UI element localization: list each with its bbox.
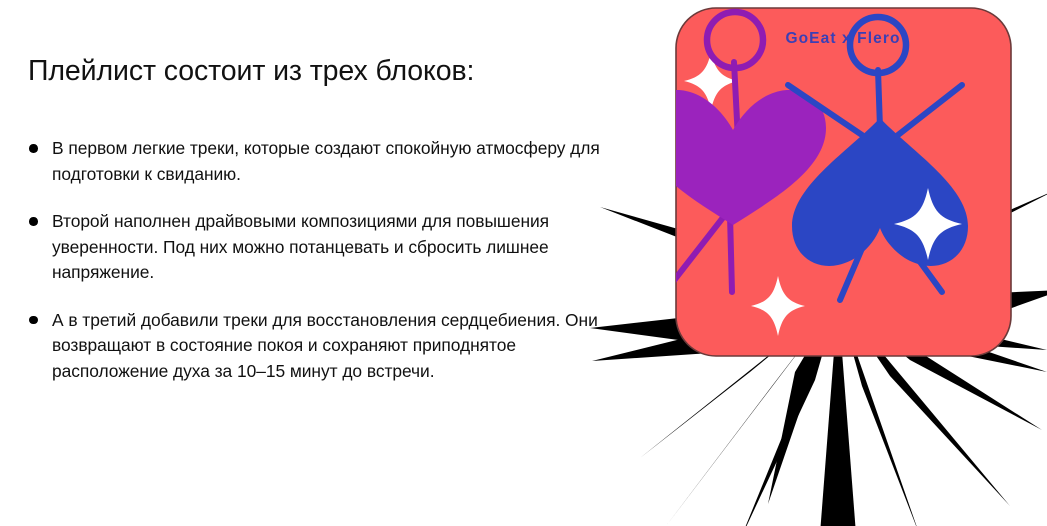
card-label: GoEat x Flero <box>785 30 900 47</box>
list-item: А в третий добавили треки для восстановл… <box>26 308 616 385</box>
bullet-dot-icon <box>29 316 38 325</box>
promo-card: GoEat x Flero <box>625 8 1011 356</box>
slide-canvas: Плейлист состоит из трех блоков: В перво… <box>0 0 1047 526</box>
bullet-dot-icon <box>29 217 38 226</box>
list-item: В первом легкие треки, которые создают с… <box>26 136 616 187</box>
text-column: Плейлист состоит из трех блоков: В перво… <box>0 0 640 526</box>
list-item-text: Второй наполнен драйвовыми композициями … <box>52 211 549 282</box>
page-title: Плейлист состоит из трех блоков: <box>28 54 628 88</box>
bullet-list: В первом легкие треки, которые создают с… <box>26 136 616 385</box>
artwork-illustration: GoEat x Flero <box>590 0 1047 526</box>
list-item: Второй наполнен драйвовыми композициями … <box>26 209 616 286</box>
list-item-text: В первом легкие треки, которые создают с… <box>52 138 600 184</box>
bullet-dot-icon <box>29 144 38 153</box>
list-item-text: А в третий добавили треки для восстановл… <box>52 310 598 381</box>
